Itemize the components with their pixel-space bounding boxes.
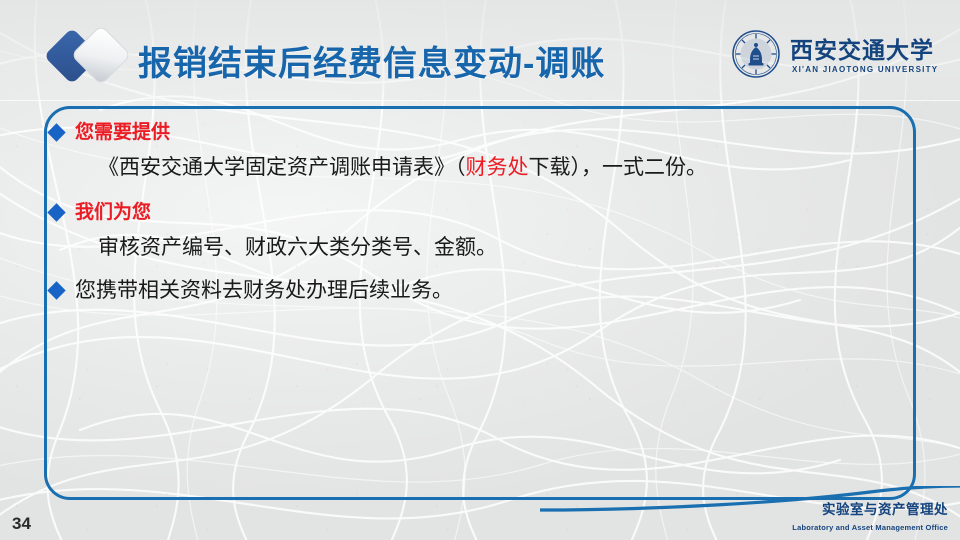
page-title: 报销结束后经费信息变动-调账 — [138, 36, 605, 85]
svg-text:西安交通大学: 西安交通大学 — [790, 37, 934, 63]
slide: 报销结束后经费信息变动-调账 西安交通大学 X — [0, 0, 960, 540]
bullet-item-3: 您携带相关资料去财务处办理后续业务。 — [50, 276, 910, 306]
footer-org-name-en: Laboratory and Asset Management Office — [792, 523, 948, 532]
page-number: 34 — [12, 514, 31, 534]
bullet-detail-1: 《西安交通大学固定资产调账申请表》（财务处下载），一式二份。 — [98, 152, 910, 184]
double-diamond-logo-icon — [44, 26, 136, 88]
detail-prefix-1: 《西安交通大学固定资产调账申请表》（ — [98, 156, 466, 179]
bullet-heading-2: 我们为您 — [75, 198, 151, 228]
diamond-bullet-icon — [47, 281, 65, 299]
bullet-heading-3: 您携带相关资料去财务处办理后续业务。 — [75, 276, 453, 306]
bullet-item-2: 我们为您 — [50, 198, 910, 228]
detail-prefix-2: 审核资产编号、财政六大类分类号、金额。 — [98, 236, 497, 259]
xjtu-seal-icon — [731, 29, 781, 79]
diamond-bullet-icon — [47, 123, 65, 141]
header-divider — [0, 100, 960, 101]
svg-text:XI'AN JIAOTONG UNIVERSITY: XI'AN JIAOTONG UNIVERSITY — [792, 65, 938, 74]
university-wordmark: 西安交通大学 XI'AN JIAOTONG UNIVERSITY — [789, 29, 944, 79]
university-logo: 西安交通大学 XI'AN JIAOTONG UNIVERSITY — [731, 26, 946, 82]
bullet-item-1: 您需要提供 — [50, 118, 910, 148]
detail-highlight-1: 财务处 — [466, 156, 529, 179]
footer-org-name-cn: 实验室与资产管理处 — [822, 498, 948, 518]
bullet-detail-2: 审核资产编号、财政六大类分类号、金额。 — [98, 232, 910, 264]
detail-suffix-1: 下载），一式二份。 — [529, 156, 708, 179]
bullet-list: 您需要提供 《西安交通大学固定资产调账申请表》（财务处下载），一式二份。 我们为… — [50, 118, 910, 308]
diamond-bullet-icon — [47, 203, 65, 221]
bullet-heading-1: 您需要提供 — [75, 118, 170, 148]
